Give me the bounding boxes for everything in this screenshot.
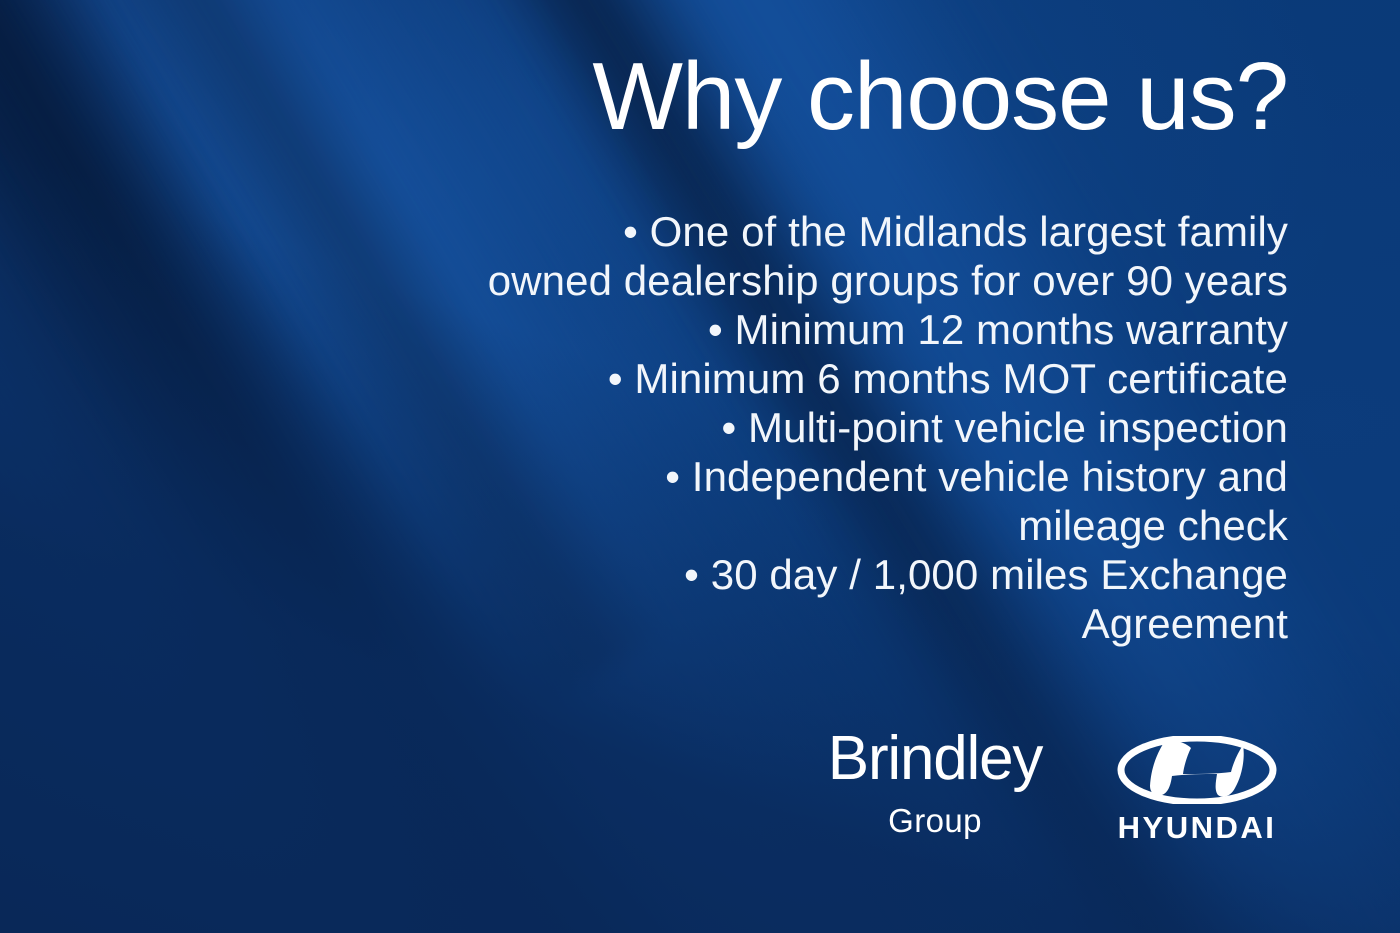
list-item: • Multi-point vehicle inspection [380,403,1288,452]
hyundai-emblem-icon [1117,736,1277,804]
brindley-wordmark: Brindley [790,728,1080,790]
hyundai-wordmark: HYUNDAI [1102,812,1292,843]
brindley-group-subtitle: Group [790,804,1080,837]
list-item: • Minimum 6 months MOT certificate [380,354,1288,403]
list-item: • One of the Midlands largest family [380,207,1288,256]
page-title: Why choose us? [0,46,1288,148]
logo-row: Brindley Group HYUND [790,728,1300,868]
list-item: owned dealership groups for over 90 year… [380,256,1288,305]
promo-slide: Why choose us? • One of the Midlands lar… [0,0,1400,933]
benefits-list: • One of the Midlands largest family own… [380,207,1288,648]
brindley-group-logo: Brindley Group [790,728,1080,837]
list-item: • Independent vehicle history and [380,452,1288,501]
list-item: • 30 day / 1,000 miles Exchange [380,550,1288,599]
list-item: • Minimum 12 months warranty [380,305,1288,354]
list-item: mileage check [380,501,1288,550]
hyundai-logo: HYUNDAI [1102,736,1292,843]
slide-content: Why choose us? • One of the Midlands lar… [0,0,1400,933]
list-item: Agreement [380,599,1288,648]
